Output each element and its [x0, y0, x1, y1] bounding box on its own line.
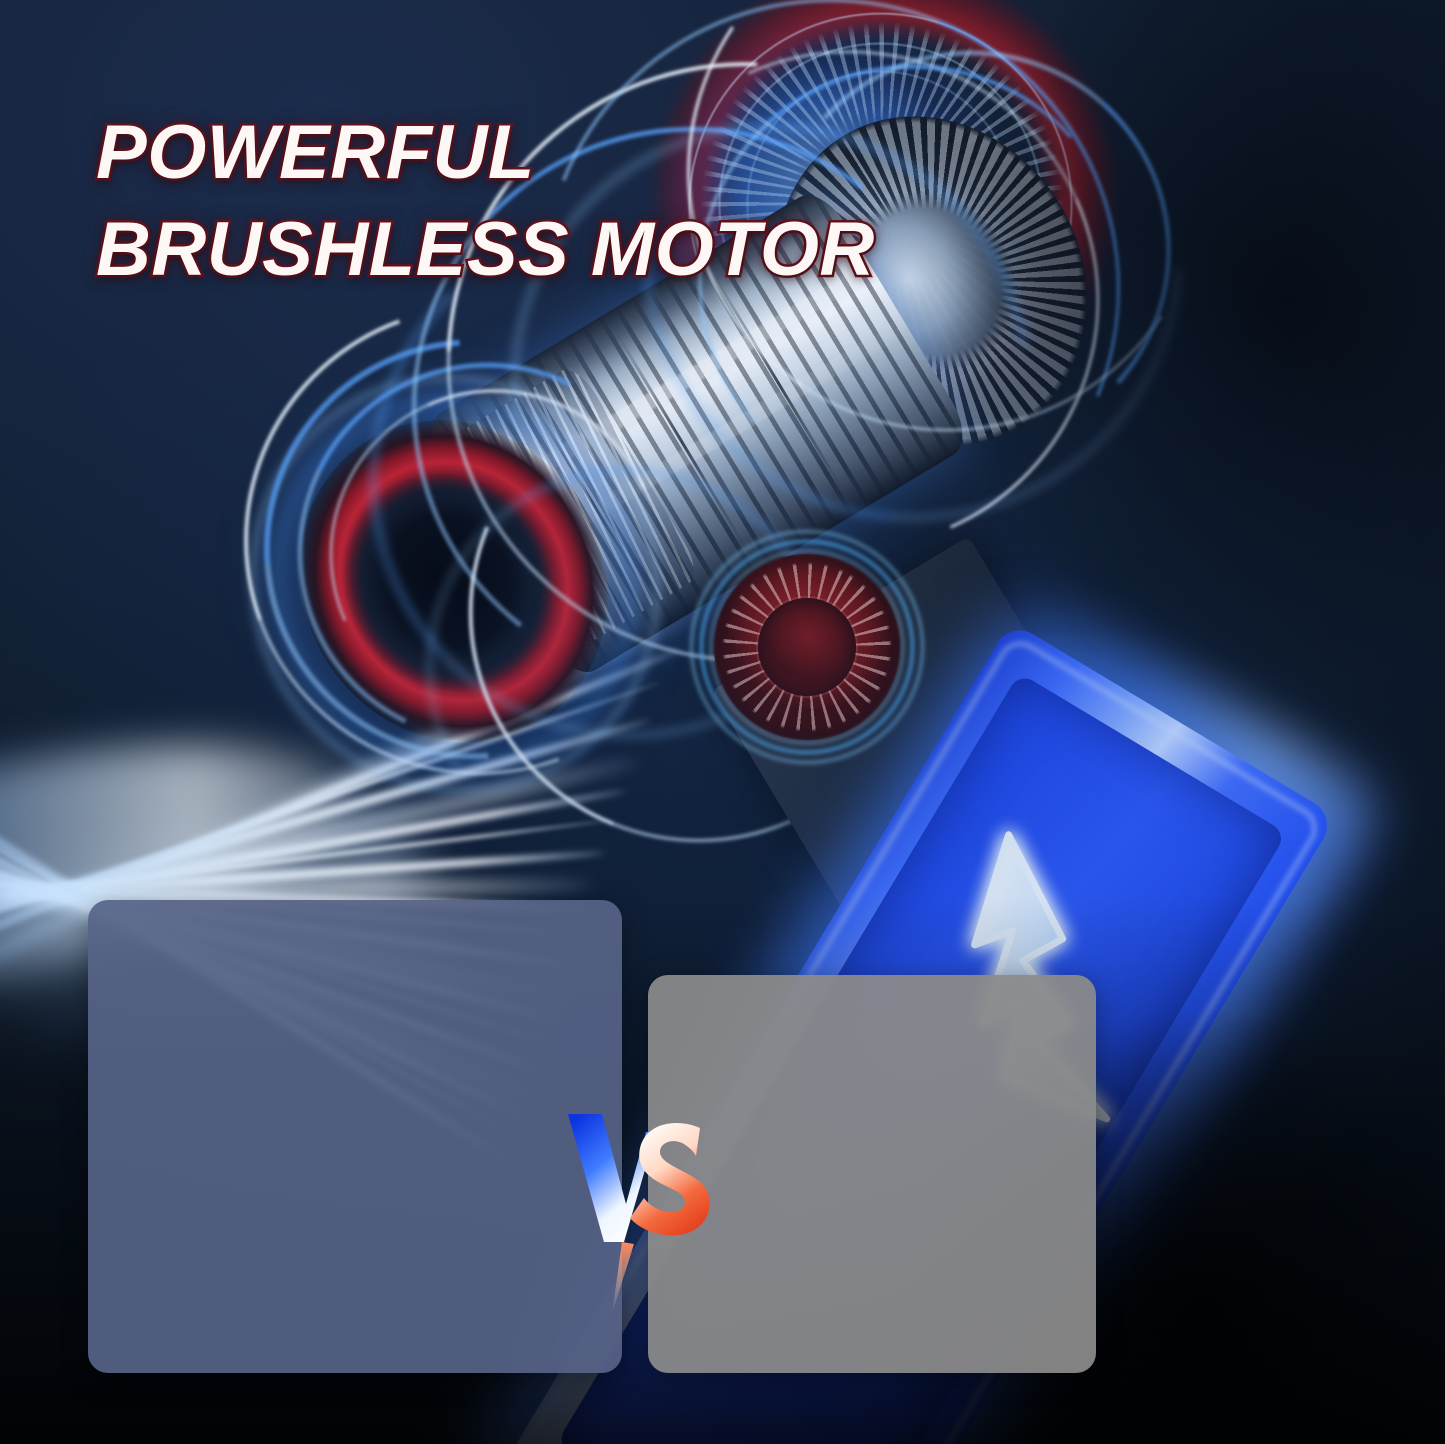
page-title: POWERFUL BRUSHLESS MOTOR	[96, 104, 1156, 299]
ours-card: Ours High Wind Speed Low Noise Long Life	[88, 900, 622, 1373]
product-feature-banner: POWERFUL BRUSHLESS MOTOR Ours High Wind …	[0, 0, 1445, 1444]
others-card: Others low wind speed Loud Noise Easily …	[648, 975, 1096, 1373]
